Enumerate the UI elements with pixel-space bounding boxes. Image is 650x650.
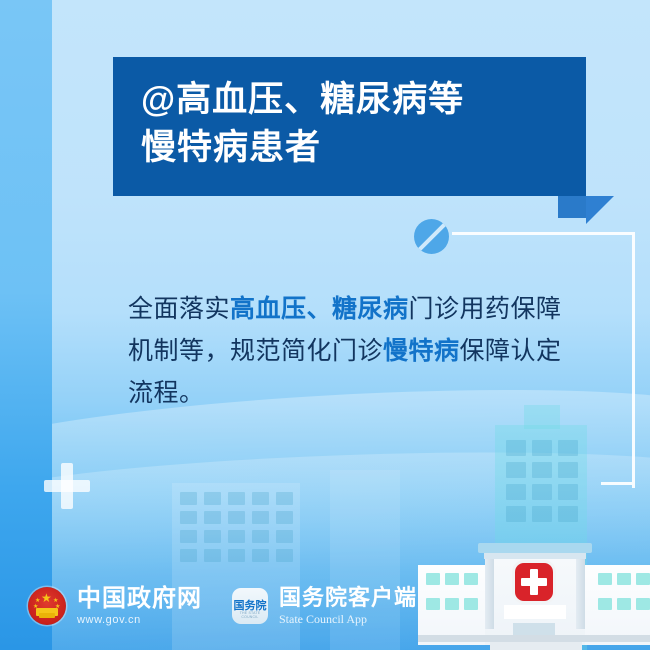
gov-site-name: 中国政府网 (77, 586, 202, 612)
state-council-app-label: 国务院客户端 State Council App (279, 586, 417, 626)
medical-cross-icon (44, 463, 90, 509)
background-building-left-windows (180, 492, 293, 562)
hospital-eave (484, 553, 586, 559)
app-icon-label: 国务院 (234, 601, 267, 612)
gov-site-url: www.gov.cn (77, 614, 202, 626)
hospital-signboard (504, 605, 566, 619)
hospital-right-windows-lower (598, 598, 650, 610)
body-paragraph: 全面落实高血压、糖尿病门诊用药保障机制等，规范简化门诊慢特病保障认定流程。 (128, 288, 568, 414)
hospital-left-windows-upper (426, 573, 478, 585)
hospital-roof (478, 543, 592, 553)
hospital-illustration (418, 543, 650, 650)
hospital-steps (490, 642, 582, 650)
hospital-right-windows-upper (598, 573, 650, 585)
body-highlight-term: 慢特病 (383, 337, 460, 365)
app-name-en: State Council App (279, 612, 417, 626)
banner-ribbon-fold (586, 196, 614, 224)
app-name-cn: 国务院客户端 (279, 586, 417, 610)
footer-logos: ★ ★ ★ ★ ★ 中国政府网 www.gov.cn 国务院 THE STATE… (28, 580, 417, 632)
body-plain-text: 全面落实 (128, 295, 230, 323)
banner-ribbon-shadow (558, 196, 586, 218)
gov-site-label: 中国政府网 www.gov.cn (77, 586, 202, 626)
pill-icon (414, 219, 449, 254)
decorative-bracket-foot (601, 482, 632, 485)
hospital-ledge (418, 635, 650, 642)
hospital-column-left (485, 559, 494, 629)
left-accent-band (0, 0, 52, 650)
hospital-column-right (576, 559, 585, 629)
national-emblem-icon: ★ ★ ★ ★ ★ (28, 587, 66, 625)
app-icon-sublabel: THE STATE COUNCIL (232, 611, 268, 619)
headline-text: @高血压、糖尿病等 慢特病患者 (141, 76, 571, 172)
poster-canvas: @高血压、糖尿病等 慢特病患者 全面落实高血压、糖尿病门诊用药保障机制等，规范简… (0, 0, 650, 650)
headline-banner: @高血压、糖尿病等 慢特病患者 (113, 57, 586, 196)
state-council-app-icon: 国务院 THE STATE COUNCIL (232, 588, 268, 624)
body-highlight-term: 高血压、糖尿病 (230, 295, 409, 323)
hospital-left-windows-lower (426, 598, 478, 610)
hospital-red-cross-icon (515, 563, 553, 601)
